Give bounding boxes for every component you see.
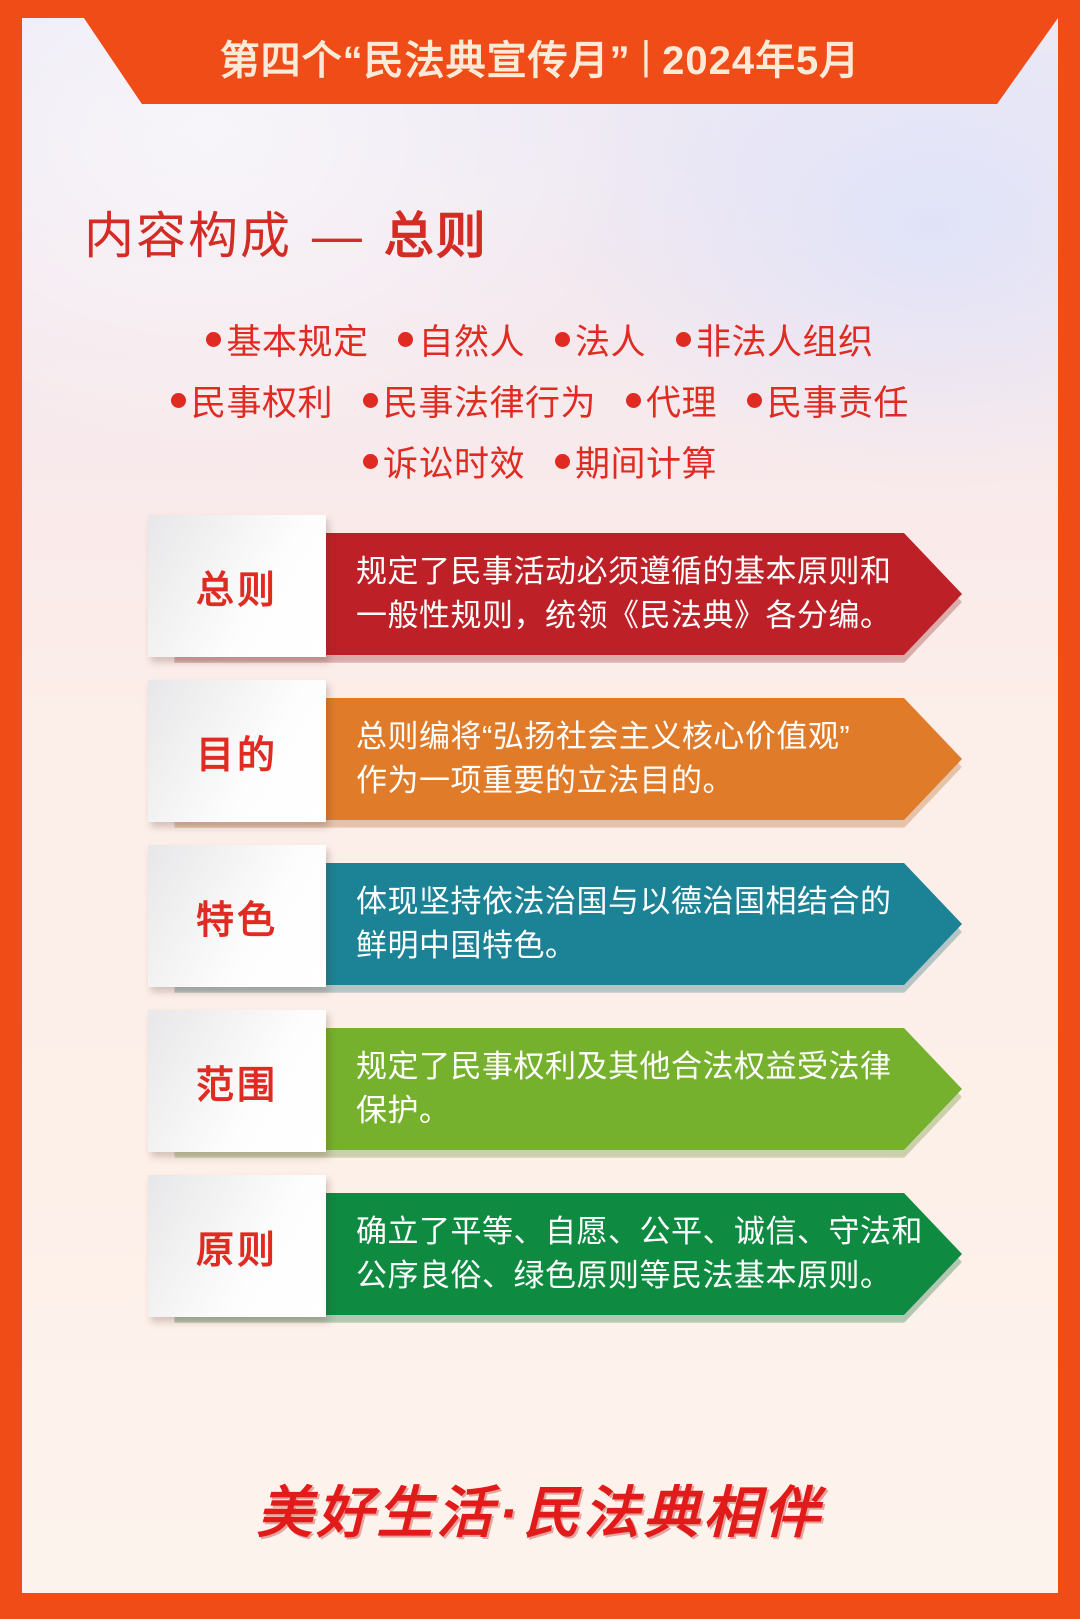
bullet-label: 期间计算 — [575, 436, 717, 487]
bullet-dot-icon — [363, 454, 378, 469]
arrow-card-tab: 目的 — [148, 680, 326, 822]
arrow-card-zongze: 总则 规定了民事活动必须遵循的基本原则和 一般性规则，统领《民法典》各分编。 — [22, 515, 1058, 657]
arrow-card-tab-label: 原则 — [196, 1219, 278, 1274]
arrow-card-line: 鲜明中国特色。 — [356, 924, 876, 968]
poster-root: 第四个“民法典宣传月” | 2024年5月 内容构成 — 总则 基本规定 自然人… — [0, 0, 1080, 1619]
bullet-label: 基本规定 — [226, 314, 368, 365]
bullet-item: 民事权利 — [171, 375, 333, 426]
arrow-card-text: 确立了平等、自愿、公平、诚信、守法和 公序良俗、绿色原则等民法基本原则。 — [356, 1193, 876, 1315]
bullet-label: 诉讼时效 — [383, 436, 525, 487]
arrow-card-yuanze: 原则 确立了平等、自愿、公平、诚信、守法和 公序良俗、绿色原则等民法基本原则。 — [22, 1175, 1058, 1317]
arrow-card-line: 体现坚持依法治国与以德治国相结合的 — [356, 880, 876, 924]
bullet-item: 代理 — [626, 375, 717, 426]
arrow-card-text: 总则编将“弘扬社会主义核心价值观” 作为一项重要的立法目的。 — [356, 698, 876, 820]
arrow-card-tab-label: 范围 — [196, 1054, 278, 1109]
arrow-card-tab: 特色 — [148, 845, 326, 987]
arrow-card-tab-label: 总则 — [196, 559, 278, 614]
bullet-label: 代理 — [646, 375, 717, 426]
bullet-label: 民事权利 — [191, 375, 333, 426]
arrow-card-fanwei: 范围 规定了民事权利及其他合法权益受法律 保护。 — [22, 1010, 1058, 1152]
bullet-dot-icon — [676, 332, 691, 347]
bullet-item: 非法人组织 — [676, 314, 874, 365]
bullet-row: 诉讼时效 期间计算 — [22, 436, 1058, 487]
bullet-item: 基本规定 — [206, 314, 368, 365]
arrow-card-tab-label: 特色 — [196, 889, 278, 944]
bullet-dot-icon — [626, 393, 641, 408]
arrow-card-tab: 范围 — [148, 1010, 326, 1152]
arrow-card-tese: 特色 体现坚持依法治国与以德治国相结合的 鲜明中国特色。 — [22, 845, 1058, 987]
bullet-row: 基本规定 自然人 法人 非法人组织 — [22, 314, 1058, 365]
arrow-card-text: 规定了民事权利及其他合法权益受法律 保护。 — [356, 1028, 876, 1150]
bullet-item: 期间计算 — [555, 436, 717, 487]
arrow-card-line: 确立了平等、自愿、公平、诚信、守法和 — [356, 1210, 876, 1254]
bullet-label: 民事法律行为 — [383, 375, 596, 426]
bullet-dot-icon — [398, 332, 413, 347]
arrow-card-tab: 原则 — [148, 1175, 326, 1317]
arrow-card-text: 体现坚持依法治国与以德治国相结合的 鲜明中国特色。 — [356, 863, 876, 985]
bullet-item: 自然人 — [398, 314, 525, 365]
bullet-item: 民事责任 — [747, 375, 909, 426]
bullet-dot-icon — [555, 454, 570, 469]
bullet-label: 法人 — [575, 314, 646, 365]
bullet-label: 民事责任 — [767, 375, 909, 426]
bullet-item: 诉讼时效 — [363, 436, 525, 487]
arrow-card-text: 规定了民事活动必须遵循的基本原则和 一般性规则，统领《民法典》各分编。 — [356, 533, 876, 655]
slogan-right: 民法典相伴 — [523, 1481, 823, 1544]
arrow-card-line: 公序良俗、绿色原则等民法基本原则。 — [356, 1254, 876, 1298]
page-title-emphasis: 总则 — [384, 208, 488, 264]
bullet-dot-icon — [747, 393, 762, 408]
arrow-card-mudi: 目的 总则编将“弘扬社会主义核心价值观” 作为一项重要的立法目的。 — [22, 680, 1058, 822]
page-title-dash: — — [308, 208, 368, 264]
bullet-item: 民事法律行为 — [363, 375, 596, 426]
banner-title-main: 第四个“民法典宣传月” — [220, 28, 631, 86]
slogan-dot: · — [497, 1481, 524, 1544]
bullet-label: 自然人 — [418, 314, 525, 365]
bullet-dot-icon — [555, 332, 570, 347]
arrow-card-tab-label: 目的 — [196, 724, 278, 779]
page-title: 内容构成 — 总则 — [84, 196, 488, 268]
slogan-left: 美好生活 — [257, 1481, 497, 1544]
arrow-card-line: 规定了民事权利及其他合法权益受法律 — [356, 1045, 876, 1089]
arrow-card-line: 规定了民事活动必须遵循的基本原则和 — [356, 550, 876, 594]
footer-slogan: 美好生活·民法典相伴 — [22, 1468, 1058, 1549]
bullet-item: 法人 — [555, 314, 646, 365]
bullet-dot-icon — [171, 393, 186, 408]
arrow-card-line: 作为一项重要的立法目的。 — [356, 759, 876, 803]
arrow-card-line: 保护。 — [356, 1089, 876, 1133]
page-title-prefix: 内容构成 — [84, 208, 292, 264]
arrow-card-tab: 总则 — [148, 515, 326, 657]
banner-title-date: 2024年5月 — [662, 28, 860, 86]
arrow-card-line: 一般性规则，统领《民法典》各分编。 — [356, 594, 876, 638]
banner-title-separator: | — [631, 34, 662, 79]
arrow-card-line: 总则编将“弘扬社会主义核心价值观” — [356, 715, 876, 759]
header-banner-title: 第四个“民法典宣传月” | 2024年5月 — [22, 18, 1058, 104]
bullet-dot-icon — [363, 393, 378, 408]
topic-bullet-list: 基本规定 自然人 法人 非法人组织 民事权利 民事法律行为 代理 民事责任 诉讼… — [22, 314, 1058, 497]
arrow-card-list: 总则 规定了民事活动必须遵循的基本原则和 一般性规则，统领《民法典》各分编。 目… — [22, 515, 1058, 1340]
bullet-label: 非法人组织 — [696, 314, 874, 365]
bullet-row: 民事权利 民事法律行为 代理 民事责任 — [22, 375, 1058, 426]
bullet-dot-icon — [206, 332, 221, 347]
poster-inner-panel: 第四个“民法典宣传月” | 2024年5月 内容构成 — 总则 基本规定 自然人… — [22, 18, 1058, 1593]
